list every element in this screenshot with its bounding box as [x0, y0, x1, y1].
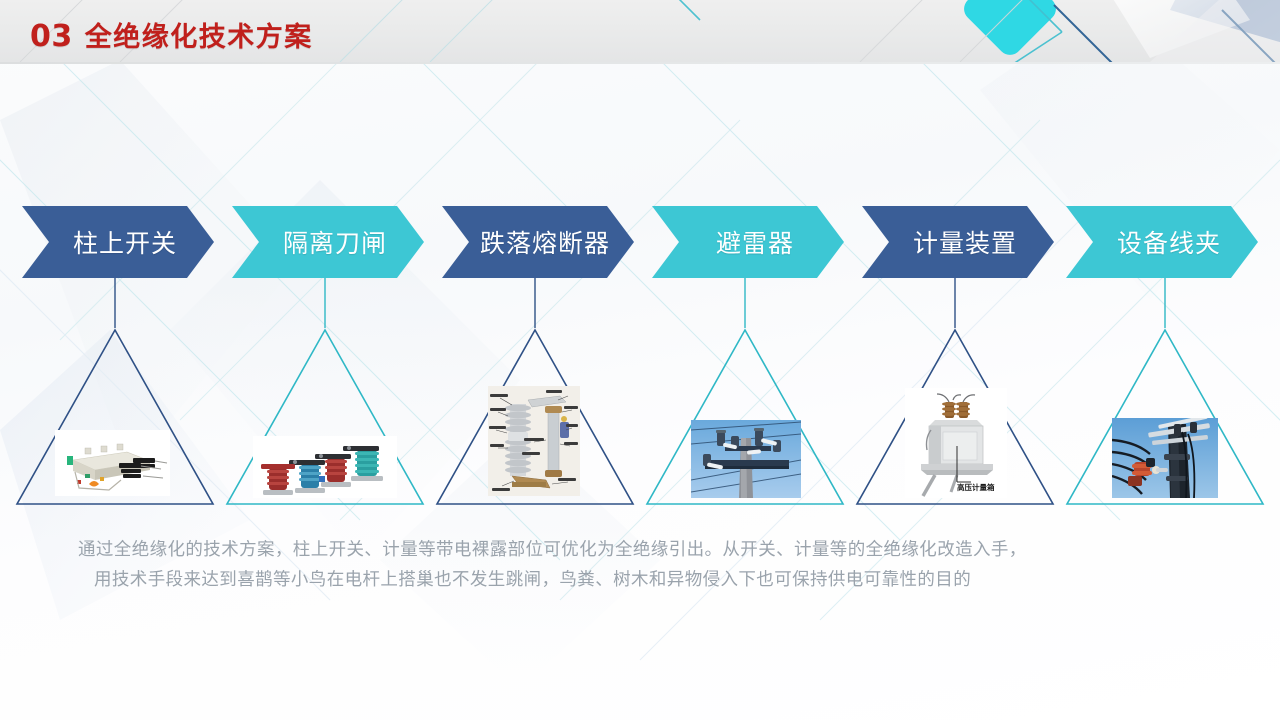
drop-out-fuse-photo	[488, 386, 580, 496]
connector-line	[114, 278, 116, 328]
step-chevron-metering-device[interactable]: 计量装置	[862, 206, 1054, 278]
connector-line	[534, 278, 536, 328]
isolating-switch-photo	[253, 436, 397, 498]
step-chevron-label: 设备线夹	[1117, 224, 1221, 260]
connector-line	[954, 278, 956, 328]
step-visual-drop-out-fuse	[430, 278, 640, 510]
step-chevron-drop-out-fuse[interactable]: 跌落熔断器	[442, 206, 634, 278]
slide-canvas: 03 全绝缘化技术方案 柱上开关 隔离刀闸 跌落熔断器 避雷器 计量装置 设备线…	[0, 0, 1280, 720]
step-visual-surge-arrester	[640, 278, 850, 510]
surge-arrester-photo	[691, 420, 801, 498]
step-chevron-label: 计量装置	[913, 224, 1017, 260]
step-chevron-isolating-switch[interactable]: 隔离刀闸	[232, 206, 424, 278]
step-visual-pole-switch	[10, 278, 220, 510]
step-chevron-equipment-clamp[interactable]: 设备线夹	[1066, 206, 1258, 278]
step-visual-metering-device: 高压计量箱	[850, 278, 1060, 510]
step-chevron-label: 避雷器	[716, 224, 794, 260]
summary-caption-line-2: 用技术手段来达到喜鹊等小鸟在电杆上搭巢也不发生跳闸，鸟粪、树木和异物侵入下也可保…	[78, 564, 1213, 594]
step-visual-isolating-switch	[220, 278, 430, 510]
step-chevron-label: 柱上开关	[73, 224, 177, 260]
pole-mounted-switch-photo	[55, 430, 170, 496]
step-chevron-pole-switch[interactable]: 柱上开关	[22, 206, 214, 278]
header-band: 03 全绝缘化技术方案	[0, 0, 1280, 62]
connector-line	[1164, 278, 1166, 328]
page-title-number: 03	[30, 22, 73, 52]
metering-photo-caption: 高压计量箱	[957, 482, 995, 492]
step-visual-equipment-clamp	[1060, 278, 1270, 510]
step-chevron-label: 跌落熔断器	[480, 224, 610, 260]
summary-caption: 通过全绝缘化的技术方案，柱上开关、计量等带电裸露部位可优化为全绝缘引出。从开关、…	[78, 534, 1213, 594]
step-chevron-row: 柱上开关 隔离刀闸 跌落熔断器 避雷器 计量装置 设备线夹	[0, 206, 1280, 278]
metering-device-photo: 高压计量箱	[905, 388, 1007, 498]
step-chevron-surge-arrester[interactable]: 避雷器	[652, 206, 844, 278]
connector-line	[744, 278, 746, 328]
connector-line	[324, 278, 326, 328]
page-title: 03 全绝缘化技术方案	[30, 22, 313, 52]
header-divider	[0, 62, 1280, 64]
equipment-clamp-photo	[1112, 418, 1218, 498]
step-triangle-row: 高压计量箱	[0, 278, 1280, 510]
summary-caption-line-1: 通过全绝缘化的技术方案，柱上开关、计量等带电裸露部位可优化为全绝缘引出。从开关、…	[78, 534, 1213, 564]
step-chevron-label: 隔离刀闸	[283, 224, 387, 260]
page-title-text: 全绝缘化技术方案	[85, 24, 313, 51]
